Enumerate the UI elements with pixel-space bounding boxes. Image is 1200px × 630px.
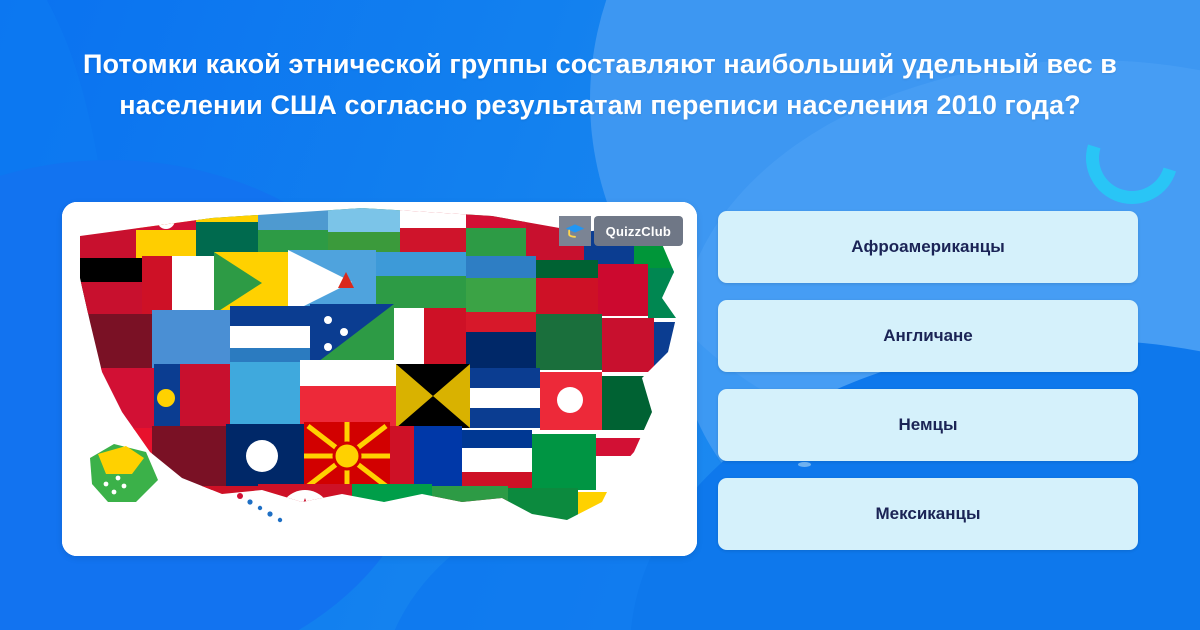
flag-map-illustration <box>62 202 697 556</box>
quizzclub-watermark-label: QuizzClub <box>594 216 683 246</box>
question-image-card: QuizzClub <box>62 202 697 556</box>
answer-option-4[interactable]: Мексиканцы <box>718 478 1138 550</box>
render-artifact-dot <box>798 462 811 467</box>
answer-option-2[interactable]: Англичане <box>718 300 1138 372</box>
graduation-cap-icon <box>559 216 591 246</box>
question-text: Потомки какой этнической группы составля… <box>60 44 1140 126</box>
answer-option-4-label: Мексиканцы <box>875 504 980 524</box>
answer-option-1-label: Афроамериканцы <box>851 237 1004 257</box>
answer-option-1[interactable]: Афроамериканцы <box>718 211 1138 283</box>
quiz-question-card: Потомки какой этнической группы составля… <box>0 0 1200 630</box>
answer-option-3[interactable]: Немцы <box>718 389 1138 461</box>
quizzclub-watermark: QuizzClub <box>559 216 683 246</box>
usa-flag-collage-svg <box>62 202 697 556</box>
answer-option-2-label: Англичане <box>883 326 973 346</box>
answer-option-3-label: Немцы <box>898 415 957 435</box>
answer-options-list: Афроамериканцы Англичане Немцы Мексиканц… <box>718 211 1138 550</box>
